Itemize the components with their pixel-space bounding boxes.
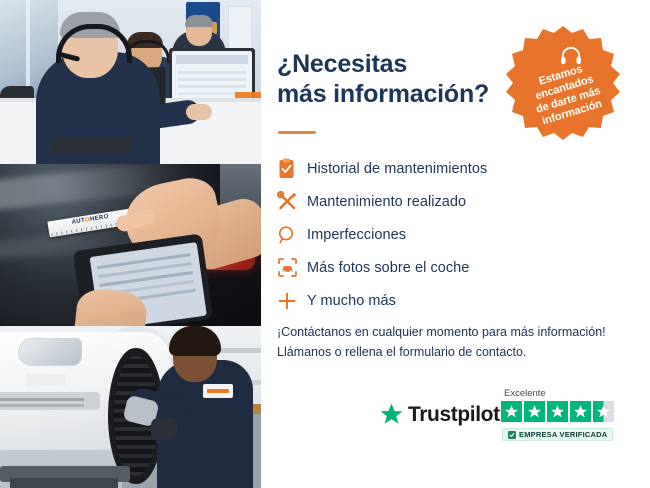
feature-list: Historial de mantenimientos Mantenimient…	[277, 152, 617, 317]
verified-company-label: EMPRESA VERIFICADA	[519, 430, 607, 439]
paragraph-line-1: ¡Contáctanos en cualquier momento para m…	[277, 322, 637, 342]
banner-content: ¿Necesitas más información? Estamos enca…	[261, 0, 650, 488]
list-item-label: Mantenimiento realizado	[307, 194, 466, 210]
star-filled	[570, 401, 591, 422]
heading-line-2: más información?	[277, 80, 527, 110]
vehicle-inspection-ruler-photo: AUTOHERO	[0, 164, 261, 326]
star-filled	[547, 401, 568, 422]
clipboard-check-icon	[277, 158, 307, 179]
car-scan-photo-icon	[277, 257, 307, 278]
wrench-screwdriver-cross-icon	[277, 191, 307, 212]
photo-collage: AUTOHERO	[0, 0, 261, 488]
list-item-label: Historial de mantenimientos	[307, 161, 487, 177]
trustpilot-widget[interactable]: Trustpilot Excelente	[379, 388, 631, 448]
list-item: Mantenimiento realizado	[277, 185, 617, 218]
list-item: Imperfecciones	[277, 218, 617, 251]
magnifier-icon	[277, 225, 307, 245]
list-item: Y mucho más	[277, 284, 617, 317]
support-badge: Estamos encantados de darte más informac…	[504, 24, 622, 142]
mechanic-tyre-check-photo	[0, 326, 261, 488]
list-item-label: Y mucho más	[307, 293, 396, 309]
contact-paragraph: ¡Contáctanos en cualquier momento para m…	[277, 322, 637, 363]
paragraph-line-2: Llámanos o rellena el formulario de cont…	[277, 342, 637, 362]
list-item-label: Imperfecciones	[307, 227, 406, 243]
list-item: Más fotos sobre el coche	[277, 251, 617, 284]
trustpilot-stars	[501, 401, 614, 422]
list-item-label: Más fotos sobre el coche	[307, 260, 469, 276]
trustpilot-star-icon	[379, 402, 404, 427]
heading-line-1: ¿Necesitas	[277, 50, 527, 80]
information-banner: AUTOHERO ¿Necesitas más información?	[0, 0, 650, 488]
page-title: ¿Necesitas más información?	[277, 50, 527, 109]
trustpilot-name: Trustpilot	[408, 403, 500, 427]
trustpilot-rating-label: Excelente	[504, 388, 546, 399]
star-filled	[501, 401, 522, 422]
trustpilot-logo: Trustpilot	[379, 402, 500, 427]
heading-accent-rule	[278, 131, 316, 134]
plus-icon	[277, 291, 307, 311]
star-filled	[524, 401, 545, 422]
verified-company-badge: EMPRESA VERIFICADA	[502, 428, 613, 441]
list-item: Historial de mantenimientos	[277, 152, 617, 185]
verified-check-icon	[508, 431, 516, 439]
call-center-agents-photo	[0, 0, 261, 164]
star-half	[593, 401, 614, 422]
